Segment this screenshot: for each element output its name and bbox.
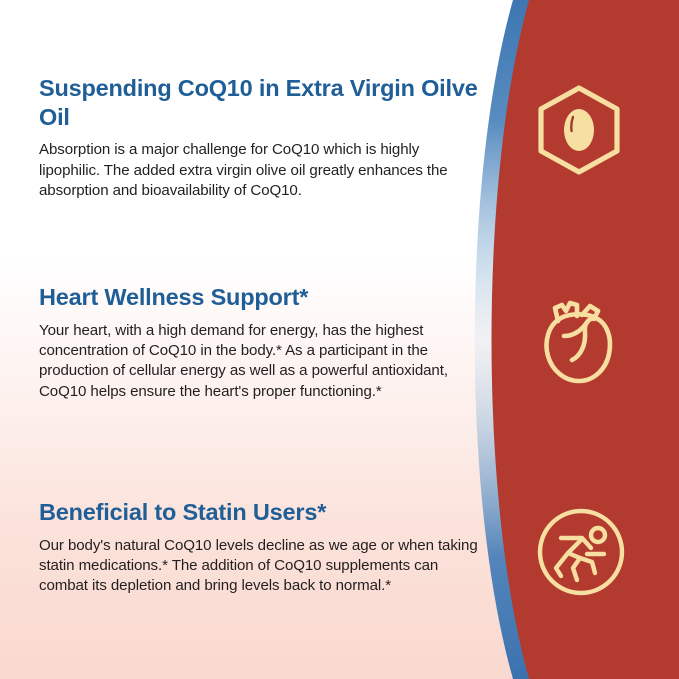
feature-section-1: Suspending CoQ10 in Extra Virgin Oilve O…: [39, 74, 479, 201]
runner-body-line: [580, 558, 595, 573]
anatomical-heart-icon: [534, 294, 626, 386]
text-column: Suspending CoQ10 in Extra Virgin Oilve O…: [0, 0, 500, 679]
feature-section-3: Beneficial to Statin Users* Our body's n…: [39, 498, 479, 597]
feature-heading-3: Beneficial to Statin Users*: [39, 498, 479, 527]
product-feature-infographic: Suspending CoQ10 in Extra Virgin Oilve O…: [0, 0, 679, 679]
feature-section-2: Heart Wellness Support* Your heart, with…: [39, 283, 479, 402]
feature-heading-2: Heart Wellness Support*: [39, 283, 479, 312]
softgel-capsule-hexagon-icon: [533, 84, 625, 176]
running-person-circle-icon: [535, 506, 627, 598]
runner-leg-back: [556, 553, 568, 576]
feature-body-1: Absorption is a major challenge for CoQ1…: [39, 140, 479, 201]
heart-body: [547, 314, 610, 381]
capsule-shape: [564, 109, 594, 151]
feature-heading-1: Suspending CoQ10 in Extra Virgin Oilve O…: [39, 74, 479, 131]
runner-head: [591, 528, 605, 542]
feature-body-3: Our body's natural CoQ10 levels decline …: [39, 536, 479, 597]
feature-body-2: Your heart, with a high demand for energ…: [39, 321, 479, 403]
circle-outline: [540, 511, 622, 593]
